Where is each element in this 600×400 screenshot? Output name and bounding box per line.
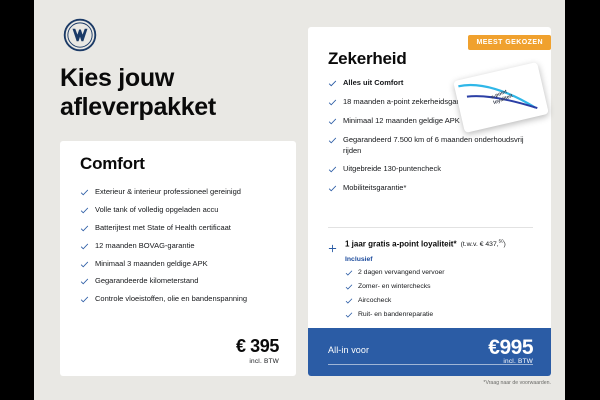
check-icon <box>328 184 337 193</box>
check-icon <box>328 79 337 88</box>
zekerheid-price-bar: All-in voor €995 incl. BTW <box>308 328 551 376</box>
check-icon <box>80 277 89 286</box>
loyalty-value: (t.w.v. € 437,50) <box>461 241 506 248</box>
list-item: Mobiliteitsgarantie* <box>328 183 536 194</box>
list-item: 2 dagen vervangend vervoer <box>345 268 485 278</box>
list-item: Uitgebreide 130-puntencheck <box>328 164 536 175</box>
package-card-comfort[interactable]: Comfort Exterieur & interieur profession… <box>60 141 296 376</box>
list-item: Minimaal 3 maanden geldige APK <box>80 259 280 270</box>
list-item: 12 maanden BOVAG-garantie <box>80 241 280 252</box>
check-icon <box>345 311 353 319</box>
list-item: Gegarandeerd 7.500 km of 6 maanden onder… <box>328 135 536 157</box>
list-item: Aircocheck <box>345 296 485 306</box>
list-item-label: Alles uit Comfort <box>343 78 403 87</box>
included-heading: Inclusief <box>345 256 485 263</box>
list-item-label: Minimaal 3 maanden geldige APK <box>95 259 208 268</box>
list-item-label: Mobiliteitsgarantie* <box>343 183 406 192</box>
check-icon <box>328 117 337 126</box>
list-item: Volle tank of volledig opgeladen accu <box>80 205 280 216</box>
list-item: Zomer- en winterchecks <box>345 282 485 292</box>
list-item: Batterijtest met State of Health certifi… <box>80 223 280 234</box>
list-item: Ruit- en bandenreparatie <box>345 310 485 320</box>
comfort-price: € 395 <box>236 337 279 355</box>
promo-canvas: Kies jouw afleverpakket Comfort Exterieu… <box>34 0 565 400</box>
list-item-label: Zomer- en winterchecks <box>358 283 431 290</box>
comfort-feature-list: Exterieur & interieur professioneel gere… <box>80 187 280 312</box>
page-title: Kies jouw afleverpakket <box>60 64 290 123</box>
zekerheid-price: €995 <box>488 336 533 360</box>
zekerheid-title: Zekerheid <box>328 49 407 69</box>
list-item-label: Ruit- en bandenreparatie <box>358 311 433 318</box>
package-card-zekerheid[interactable]: MEEST GEKOZEN Zekerheid Alles uit Comfor… <box>308 27 551 376</box>
list-item-label: Gegarandeerde kilometerstand <box>95 276 198 285</box>
check-icon <box>328 136 337 145</box>
check-icon <box>80 206 89 215</box>
footnote: *Vraag naar de voorwaarden. <box>308 380 553 386</box>
list-item-label: 18 maanden a-point zekerheidsgarantie <box>343 97 475 106</box>
volkswagen-logo-icon <box>63 18 97 52</box>
section-divider <box>328 227 533 228</box>
status-badge: MEEST GEKOZEN <box>468 35 551 50</box>
check-icon <box>80 224 89 233</box>
list-item: Controle vloeistoffen, olie en bandenspa… <box>80 294 280 305</box>
comfort-title: Comfort <box>80 154 145 174</box>
list-item: Gegarandeerde kilometerstand <box>80 276 280 287</box>
check-icon <box>80 242 89 251</box>
check-icon <box>80 260 89 269</box>
loyalty-title: 1 jaar gratis a-point loyaliteit* <box>345 239 457 248</box>
list-item-label: Batterijtest met State of Health certifi… <box>95 223 231 232</box>
list-item-label: 2 dagen vervangend vervoer <box>358 269 445 276</box>
list-item-label: Gegarandeerd 7.500 km of 6 maanden onder… <box>343 135 524 155</box>
price-label: All-in voor <box>328 345 369 355</box>
plus-icon <box>328 240 337 249</box>
list-item-label: Volle tank of volledig opgeladen accu <box>95 205 218 214</box>
list-item-label: Exterieur & interieur professioneel gere… <box>95 187 241 196</box>
check-icon <box>345 297 353 305</box>
check-icon <box>328 165 337 174</box>
loyalty-title-wrap: 1 jaar gratis a-point loyaliteit*(t.w.v.… <box>328 239 543 248</box>
comfort-price-block: € 395 incl. BTW <box>236 337 279 365</box>
loyalty-row: 1 jaar gratis a-point loyaliteit*(t.w.v.… <box>328 239 543 248</box>
loyalty-included-list: Inclusief 2 dagen vervangend vervoer Zom… <box>345 256 485 323</box>
check-icon <box>345 269 353 277</box>
check-icon <box>80 188 89 197</box>
list-item-label: Controle vloeistoffen, olie en bandenspa… <box>95 294 247 303</box>
comfort-price-note: incl. BTW <box>236 358 279 365</box>
check-icon <box>328 98 337 107</box>
list-item-label: Aircocheck <box>358 297 391 304</box>
list-item: Exterieur & interieur professioneel gere… <box>80 187 280 198</box>
price-underline <box>328 364 533 365</box>
screenshot-stage: Kies jouw afleverpakket Comfort Exterieu… <box>0 0 600 400</box>
list-item-label: Minimaal 12 maanden geldige APK <box>343 116 460 125</box>
list-item-label: Uitgebreide 130-puntencheck <box>343 164 441 173</box>
check-icon <box>345 283 353 291</box>
list-item-label: 12 maanden BOVAG-garantie <box>95 241 195 250</box>
check-icon <box>80 295 89 304</box>
